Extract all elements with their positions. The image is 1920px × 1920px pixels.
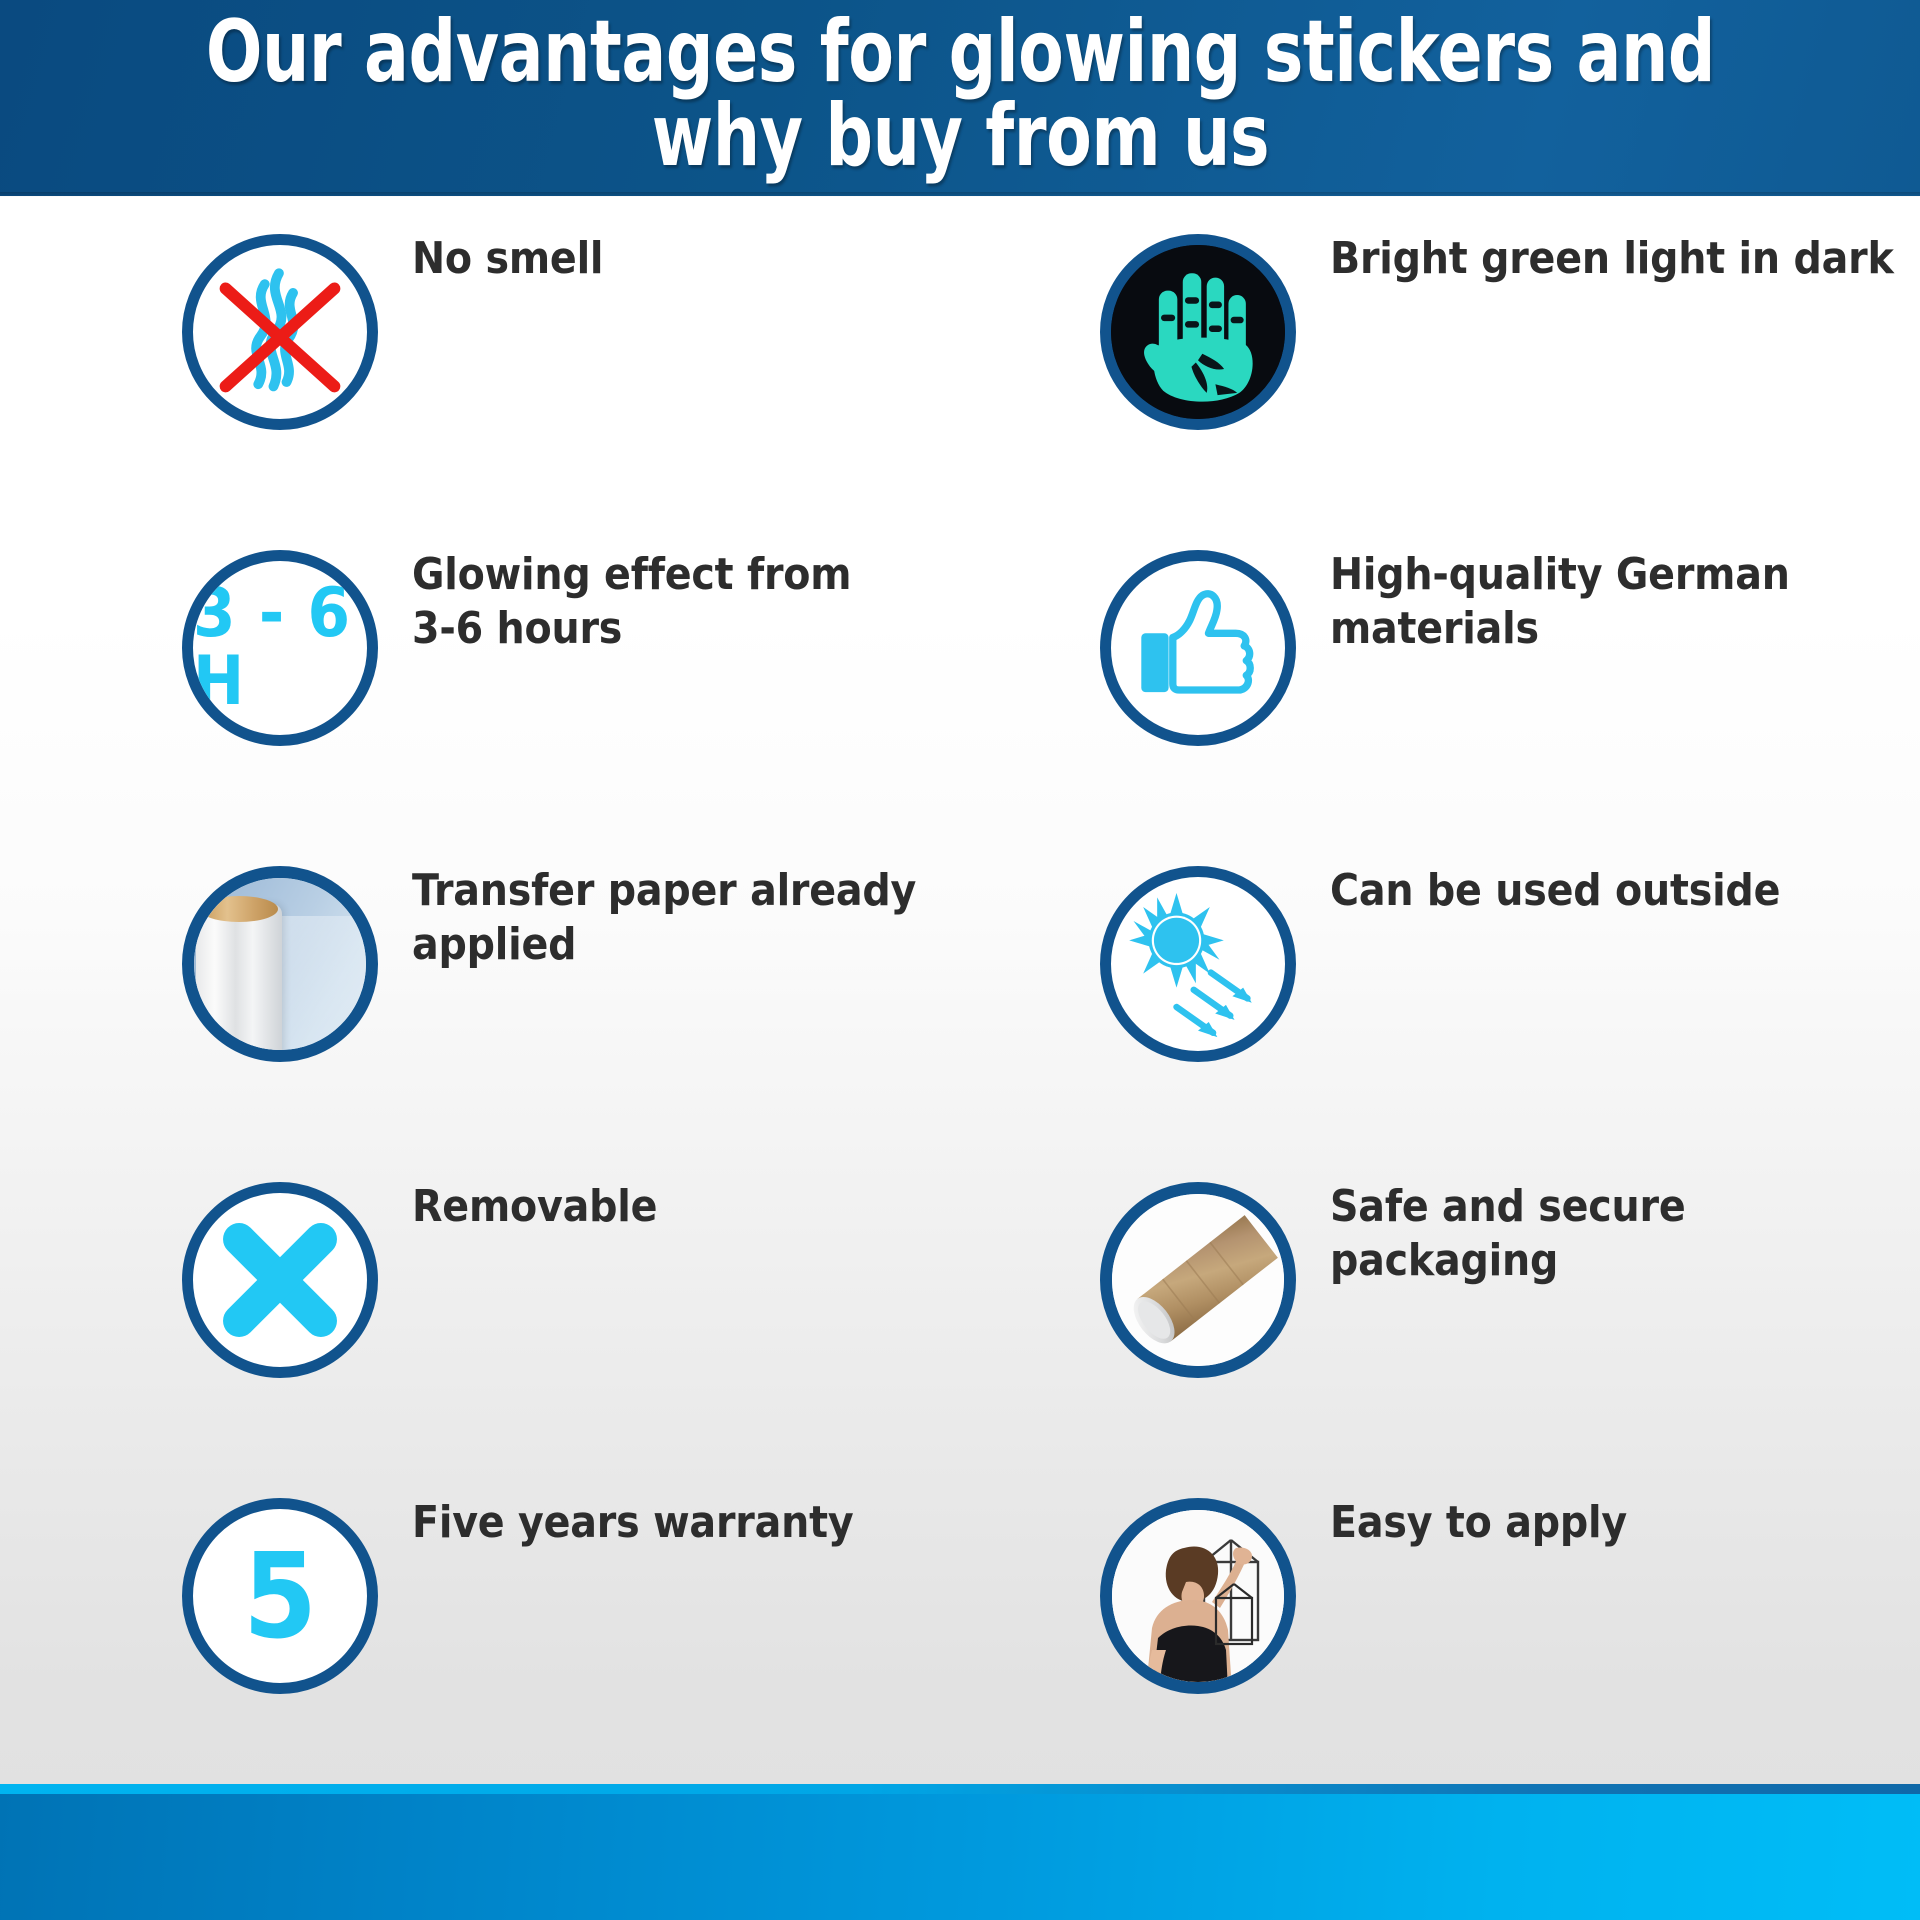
- feature-item-warranty: 5 Five years warranty: [0, 1478, 960, 1794]
- feature-item-bright-green-light: Bright green light in dark: [960, 214, 1920, 530]
- feature-label: Removable: [412, 1180, 657, 1234]
- feature-grid: No smell: [0, 196, 1920, 1794]
- glowing-handprint-icon: [1100, 234, 1296, 430]
- feature-label: High-quality German materials: [1330, 548, 1920, 655]
- footer-banner: [0, 1794, 1920, 1920]
- feature-label: Glowing effect from 3-6 hours: [412, 548, 851, 655]
- feature-item-safe-packaging: Safe and secure packaging: [960, 1162, 1920, 1478]
- no-smell-icon: [182, 234, 378, 430]
- feature-item-easy-to-apply: Easy to apply: [960, 1478, 1920, 1794]
- feature-label: Safe and secure packaging: [1330, 1180, 1920, 1287]
- feature-item-transfer-paper: Transfer paper already applied: [0, 846, 960, 1162]
- cross-x-icon: [182, 1182, 378, 1378]
- five-years-badge-icon: 5: [182, 1498, 378, 1694]
- hours-badge-text: 3 - 6 H: [193, 580, 367, 716]
- feature-label: Five years warranty: [412, 1496, 853, 1550]
- five-years-badge-text: 5: [243, 1537, 317, 1655]
- header-banner: Our advantages for glowing stickers and …: [0, 0, 1920, 196]
- feature-label: Can be used outside: [1330, 864, 1780, 918]
- feature-item-glowing-duration: 3 - 6 H Glowing effect from 3-6 hours: [0, 530, 960, 846]
- sun-with-rays-icon: [1100, 866, 1296, 1062]
- woman-applying-sticker-photo: [1100, 1498, 1296, 1694]
- feature-label: Easy to apply: [1330, 1496, 1627, 1550]
- infographic-page: Our advantages for glowing stickers and …: [0, 0, 1920, 1920]
- feature-item-german-materials: High-quality German materials: [960, 530, 1920, 846]
- feature-item-outdoor-use: Can be used outside: [960, 846, 1920, 1162]
- hours-badge-icon: 3 - 6 H: [182, 550, 378, 746]
- feature-item-removable: Removable: [0, 1162, 960, 1478]
- transfer-paper-roll-photo: [182, 866, 378, 1062]
- feature-item-no-smell: No smell: [0, 214, 960, 530]
- thumbs-up-icon: [1100, 550, 1296, 746]
- footer-accent-line: [0, 1784, 1920, 1794]
- feature-label: Transfer paper already applied: [412, 864, 916, 971]
- feature-label: Bright green light in dark: [1330, 232, 1894, 286]
- mailing-tube-photo: [1100, 1182, 1296, 1378]
- feature-label: No smell: [412, 232, 603, 286]
- page-title: Our advantages for glowing stickers and …: [205, 10, 1714, 179]
